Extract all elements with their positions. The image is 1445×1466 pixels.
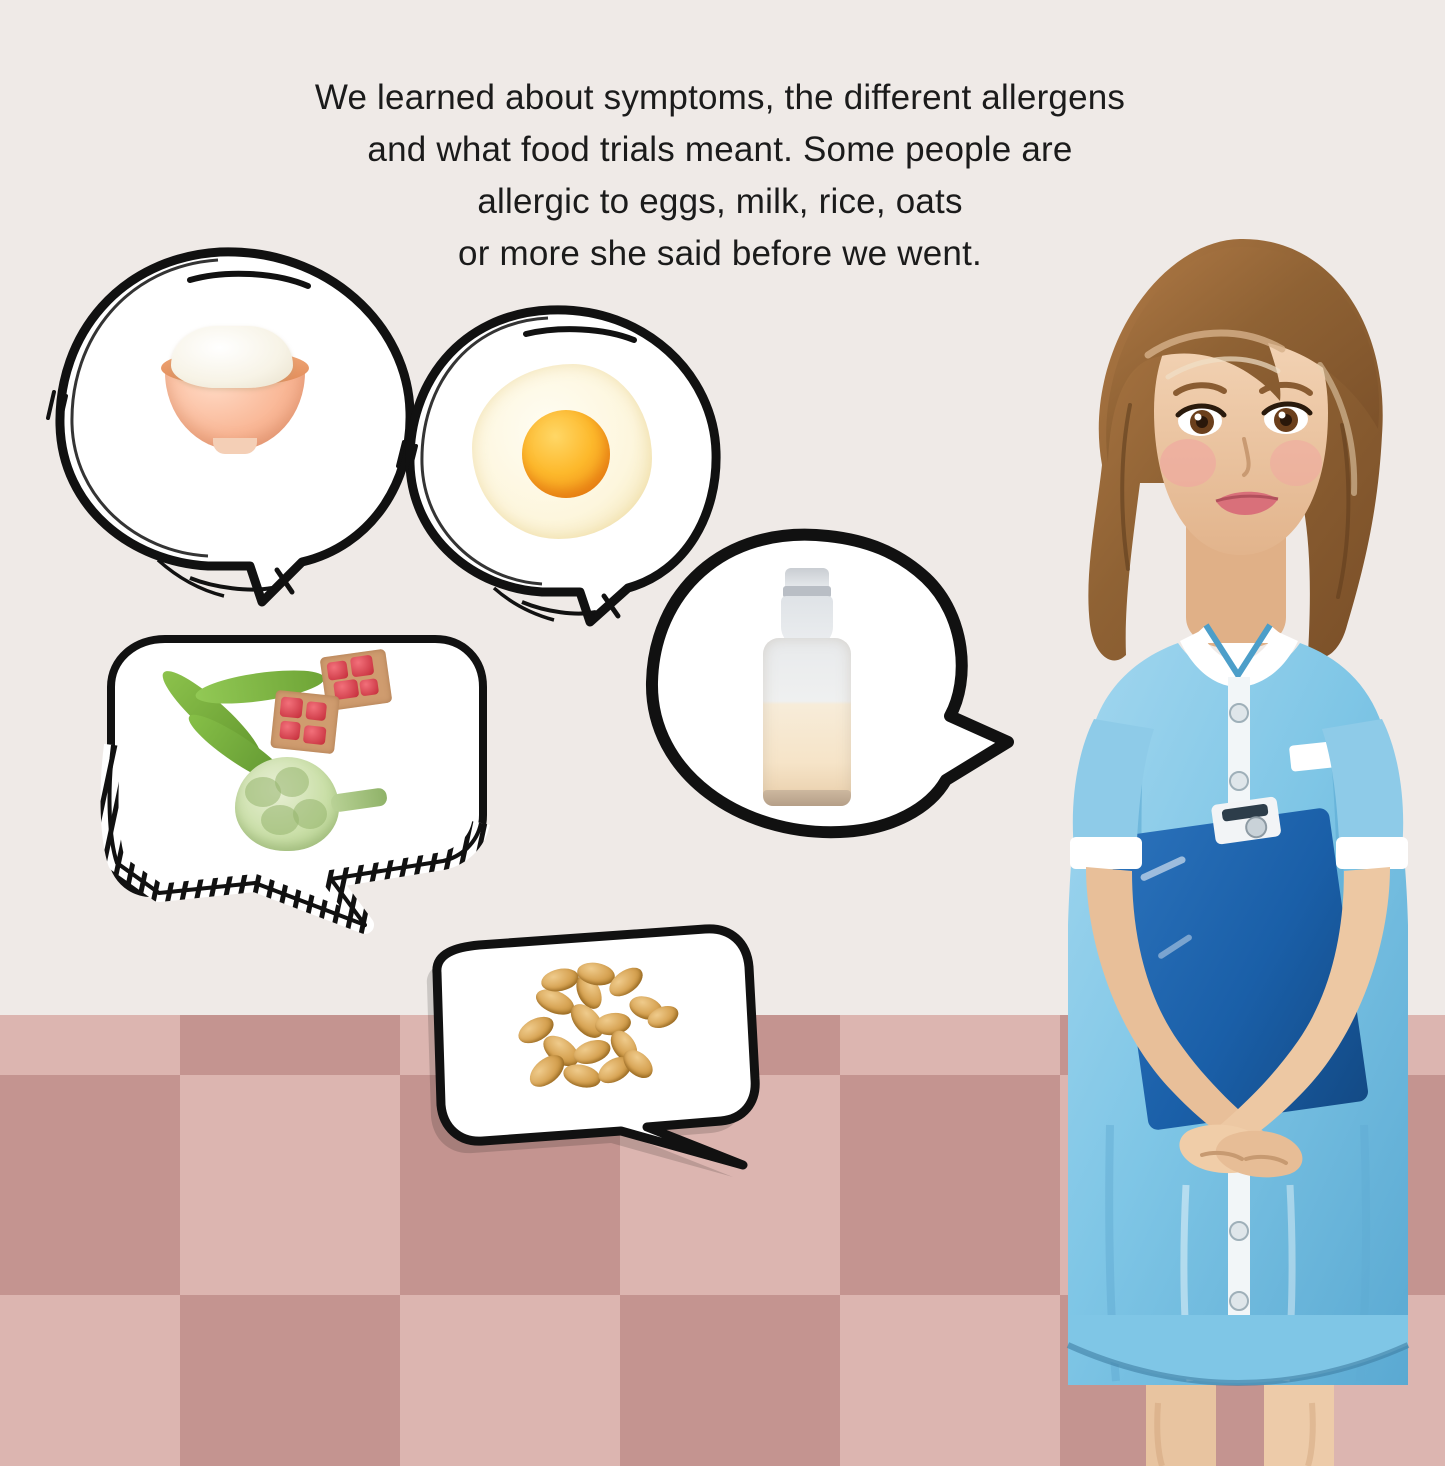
milk-bottle-illustration [752, 568, 862, 808]
narration-text: We learned about symptoms, the different… [245, 72, 1195, 280]
artichoke-illustration [235, 753, 385, 853]
vegetables-speech-bubble[interactable] [95, 625, 515, 955]
oat-grains-illustration [511, 963, 691, 1103]
rice-bowl-illustration [155, 320, 315, 455]
milk-bottle-speech-bubble[interactable] [630, 520, 1030, 850]
oats-speech-bubble[interactable] [425, 915, 775, 1185]
nurse-character [990, 225, 1445, 1466]
strawberry-toast-illustration-2 [270, 690, 340, 754]
rice-bowl-speech-bubble[interactable] [40, 240, 440, 610]
storybook-page: We learned about symptoms, the different… [0, 0, 1445, 1466]
fried-egg-illustration [472, 364, 652, 539]
